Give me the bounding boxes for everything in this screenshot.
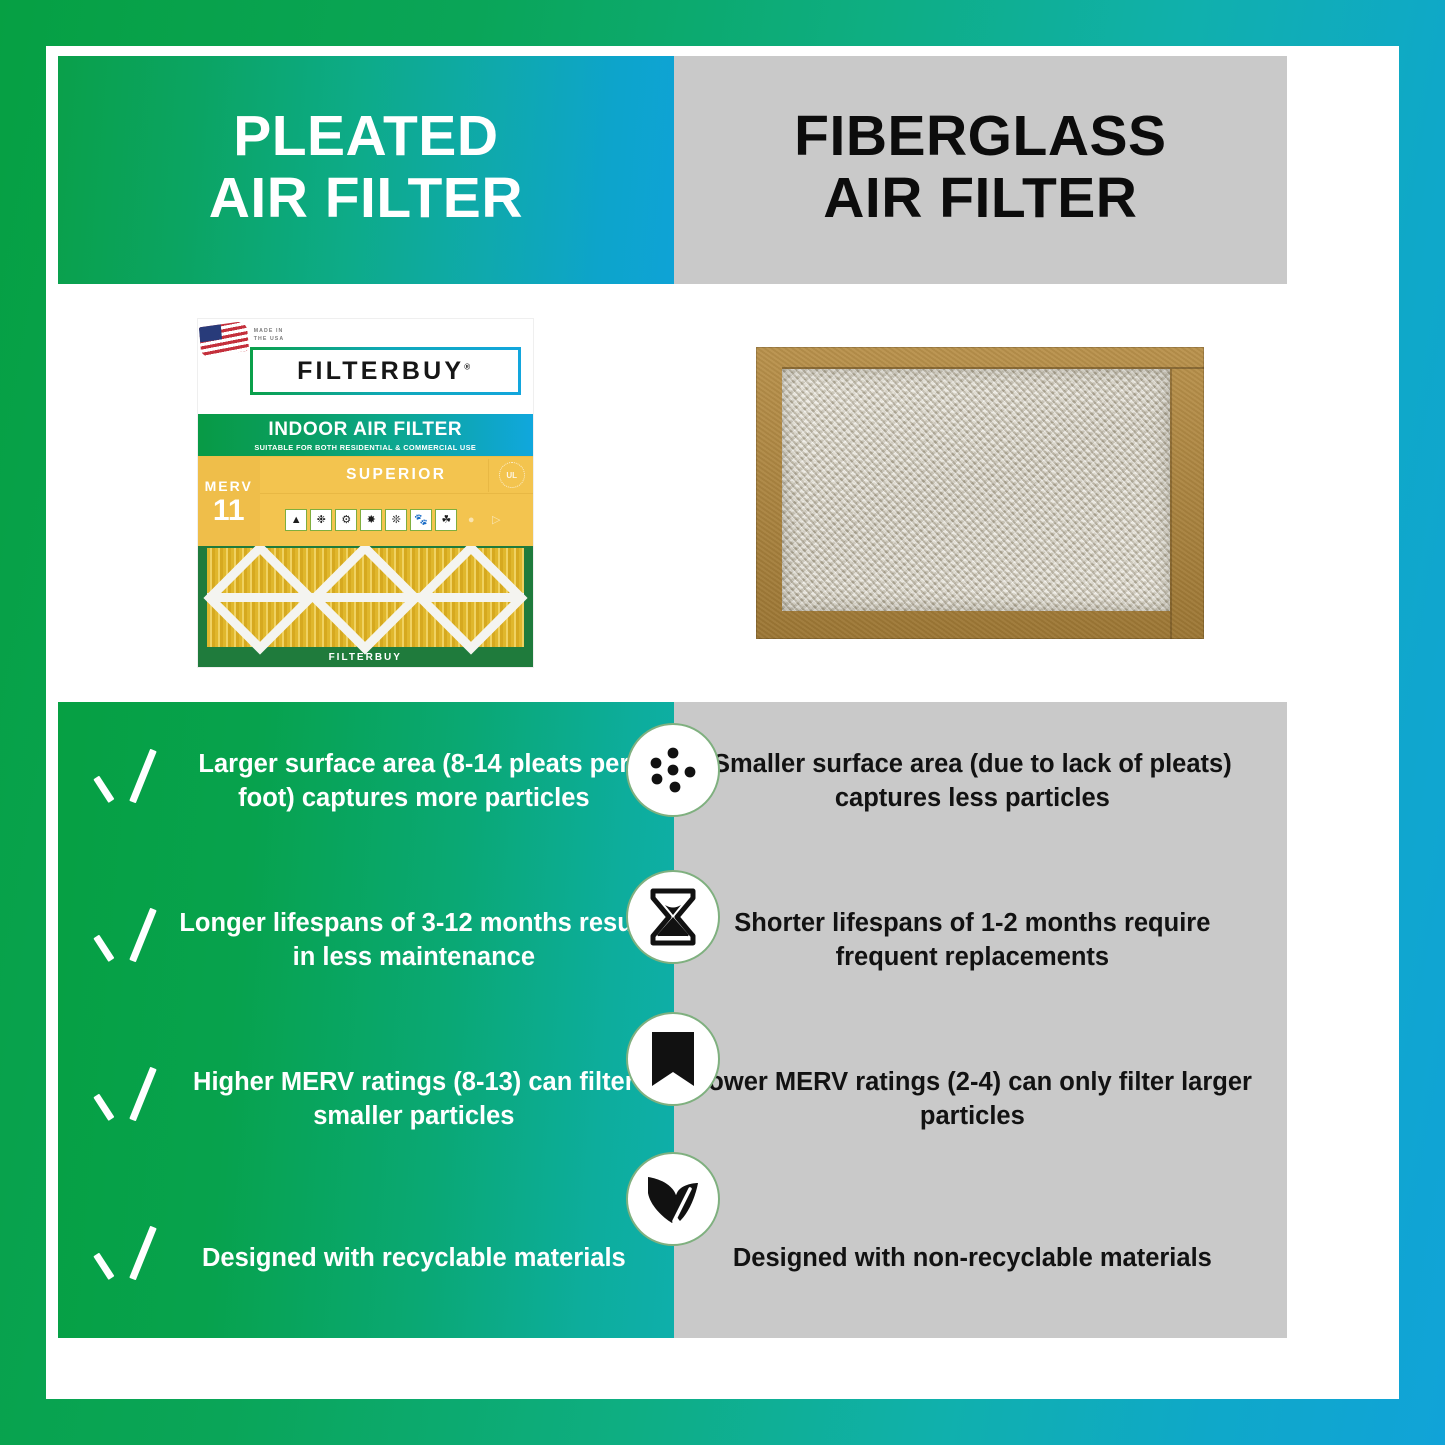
- comparison-right-text: Lower MERV ratings (2-4) can only filter…: [692, 1066, 1253, 1133]
- product-images-strip: MADE IN THE USA FILTERBUY® INDOOR AIR FI…: [58, 284, 1287, 702]
- package-feature-icons: ▲ ❉ ⚙ ✸ ❊ 🐾 ☘ ● ▷: [260, 494, 533, 546]
- usa-flag-icon: [199, 321, 249, 358]
- fiberglass-mesh: [782, 369, 1170, 611]
- pleat-diamond-supports: [207, 548, 524, 647]
- filterbuy-package-image: MADE IN THE USA FILTERBUY® INDOOR AIR FI…: [198, 319, 533, 667]
- comparison-row-left: Designed with recyclable materials: [58, 1228, 674, 1290]
- header-band: PLEATED AIR FILTER FIBERGLASS AIR FILTER: [58, 56, 1287, 284]
- fiberglass-frame-seam-top: [782, 367, 1204, 369]
- package-band-subtitle: SUITABLE FOR BOTH RESIDENTIAL & COMMERCI…: [254, 443, 476, 452]
- made-in-line2: THE USA: [254, 335, 284, 343]
- diamond-support: [414, 546, 527, 654]
- comparison-right-text: Designed with non-recyclable materials: [692, 1242, 1253, 1276]
- package-tier-label: SUPERIOR: [260, 457, 533, 494]
- merv-badge: MERV 11: [198, 457, 260, 546]
- header-pleated-panel: PLEATED AIR FILTER: [58, 56, 674, 284]
- pollen-icon: ❉: [310, 509, 332, 531]
- checkmark-icon: [96, 910, 150, 972]
- header-pleated-line1: PLEATED: [209, 106, 523, 168]
- dust-icon: ▲: [285, 509, 307, 531]
- seal-divider: [488, 459, 489, 492]
- package-top-section: MADE IN THE USA FILTERBUY®: [198, 319, 533, 414]
- smoke-icon: ❊: [385, 509, 407, 531]
- fiberglass-product-cell: [673, 284, 1288, 702]
- brand-trademark: ®: [464, 362, 473, 371]
- made-in-usa-label: MADE IN THE USA: [254, 327, 284, 343]
- comparison-row: Larger surface area (8-14 pleats per foo…: [58, 702, 1287, 861]
- brand-word: FILTERBUY: [297, 357, 464, 385]
- merv-value: 11: [213, 496, 245, 526]
- comparison-row-right: Shorter lifespans of 1-2 months require …: [674, 907, 1287, 974]
- pet-dander-icon: 🐾: [410, 509, 432, 531]
- mold-icon: ✸: [360, 509, 382, 531]
- header-fiberglass-panel: FIBERGLASS AIR FILTER: [674, 56, 1287, 284]
- comparison-right-text: Shorter lifespans of 1-2 months require …: [692, 907, 1253, 974]
- comparison-left-text: Higher MERV ratings (8-13) can filter sm…: [172, 1066, 656, 1133]
- checkmark-icon: [96, 1228, 150, 1290]
- comparison-row-right: Designed with non-recyclable materials: [674, 1242, 1287, 1276]
- header-fiberglass-line2: AIR FILTER: [794, 168, 1166, 230]
- virus-icon-disabled: ▷: [485, 509, 507, 531]
- comparison-left-text: Designed with recyclable materials: [172, 1242, 656, 1276]
- allergen-icon: ☘: [435, 509, 457, 531]
- header-fiberglass-title: FIBERGLASS AIR FILTER: [794, 106, 1166, 229]
- fiberglass-frame-seam-right: [1170, 369, 1172, 639]
- comparison-row-left: Larger surface area (8-14 pleats per foo…: [58, 748, 674, 815]
- comparison-row-right: Lower MERV ratings (2-4) can only filter…: [674, 1066, 1287, 1133]
- comparison-left-text: Larger surface area (8-14 pleats per foo…: [172, 748, 656, 815]
- comparison-row: Designed with recyclable materials Desig…: [58, 1179, 1287, 1338]
- package-yellow-section: MERV 11 SUPERIOR UL ▲ ❉ ⚙ ✸ ❊ 🐾 ☘ ●: [198, 456, 533, 546]
- header-fiberglass-line1: FIBERGLASS: [794, 106, 1166, 168]
- comparison-row-left: Longer lifespans of 3-12 months result i…: [58, 907, 674, 974]
- checkmark-icon: [96, 751, 150, 813]
- comparison-rows: Larger surface area (8-14 pleats per foo…: [58, 702, 1287, 1338]
- bacteria-icon: ⚙: [335, 509, 357, 531]
- diamond-support: [203, 546, 316, 654]
- header-pleated-title: PLEATED AIR FILTER: [209, 106, 523, 229]
- filterbuy-logo-frame: FILTERBUY®: [250, 347, 521, 395]
- pleated-product-cell: MADE IN THE USA FILTERBUY® INDOOR AIR FI…: [58, 284, 673, 702]
- comparison-row: Longer lifespans of 3-12 months result i…: [58, 861, 1287, 1020]
- comparison-row-left: Higher MERV ratings (8-13) can filter sm…: [58, 1066, 674, 1133]
- infographic-page: PLEATED AIR FILTER FIBERGLASS AIR FILTER…: [0, 0, 1445, 1445]
- comparison-right-text: Smaller surface area (due to lack of ple…: [692, 748, 1253, 815]
- merv-label: MERV: [205, 478, 253, 494]
- package-indoor-band: INDOOR AIR FILTER SUITABLE FOR BOTH RESI…: [198, 414, 533, 456]
- comparison-row-right: Smaller surface area (due to lack of ple…: [674, 748, 1287, 815]
- ul-seal-icon: UL: [499, 462, 525, 488]
- odor-icon-disabled: ●: [460, 509, 482, 531]
- fiberglass-filter-image: [756, 347, 1204, 639]
- checkmark-icon: [96, 1069, 150, 1131]
- filterbuy-brand-text: FILTERBUY®: [297, 357, 473, 386]
- header-pleated-line2: AIR FILTER: [209, 168, 523, 230]
- package-footer-brand: FILTERBUY: [198, 652, 533, 663]
- package-pleat-section: FILTERBUY: [198, 546, 533, 667]
- made-in-line1: MADE IN: [254, 327, 284, 335]
- diamond-support: [309, 546, 422, 654]
- comparison-section: Larger surface area (8-14 pleats per foo…: [58, 702, 1287, 1338]
- package-band-title: INDOOR AIR FILTER: [268, 419, 462, 441]
- comparison-left-text: Longer lifespans of 3-12 months result i…: [172, 907, 656, 974]
- comparison-row: Higher MERV ratings (8-13) can filter sm…: [58, 1020, 1287, 1179]
